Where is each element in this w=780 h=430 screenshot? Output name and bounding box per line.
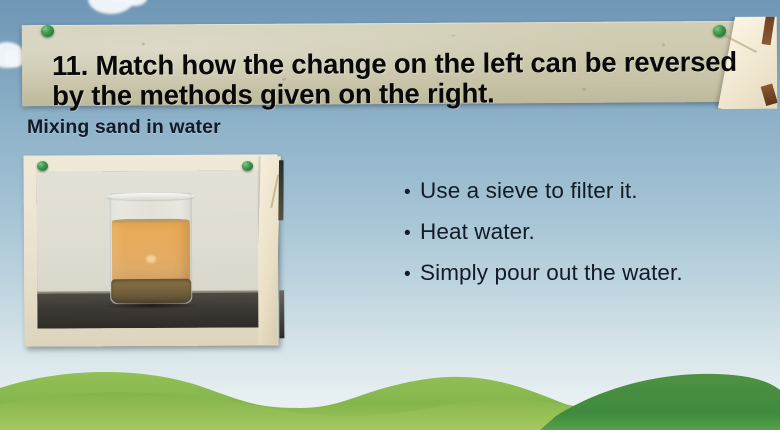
method-label: Use a sieve to filter it. xyxy=(420,178,776,204)
green-pushpin-icon xyxy=(242,161,253,171)
green-pushpin-icon xyxy=(37,161,48,171)
beaker-photo xyxy=(37,170,266,328)
hills-background xyxy=(0,360,780,430)
list-item: • Simply pour out the water. xyxy=(404,260,776,286)
slide-canvas: 11. Match how the change on the left can… xyxy=(0,0,780,430)
green-pushpin-icon xyxy=(713,25,726,37)
method-label: Simply pour out the water. xyxy=(420,260,776,286)
bullet-dot-icon: • xyxy=(404,265,420,284)
beaker-photo-frame xyxy=(24,154,279,346)
list-item: • Use a sieve to filter it. xyxy=(404,178,776,204)
list-item: • Heat water. xyxy=(404,219,776,245)
methods-list: • Use a sieve to filter it. • Heat water… xyxy=(404,178,776,301)
bullet-dot-icon: • xyxy=(404,224,420,243)
page-title: 11. Match how the change on the left can… xyxy=(52,47,772,111)
method-label: Heat water. xyxy=(420,219,776,245)
title-banner: 11. Match how the change on the left can… xyxy=(22,21,775,107)
beaker-illustration xyxy=(110,193,193,304)
green-pushpin-icon xyxy=(41,25,54,37)
bullet-dot-icon: • xyxy=(404,183,420,202)
change-label: Mixing sand in water xyxy=(27,116,221,139)
